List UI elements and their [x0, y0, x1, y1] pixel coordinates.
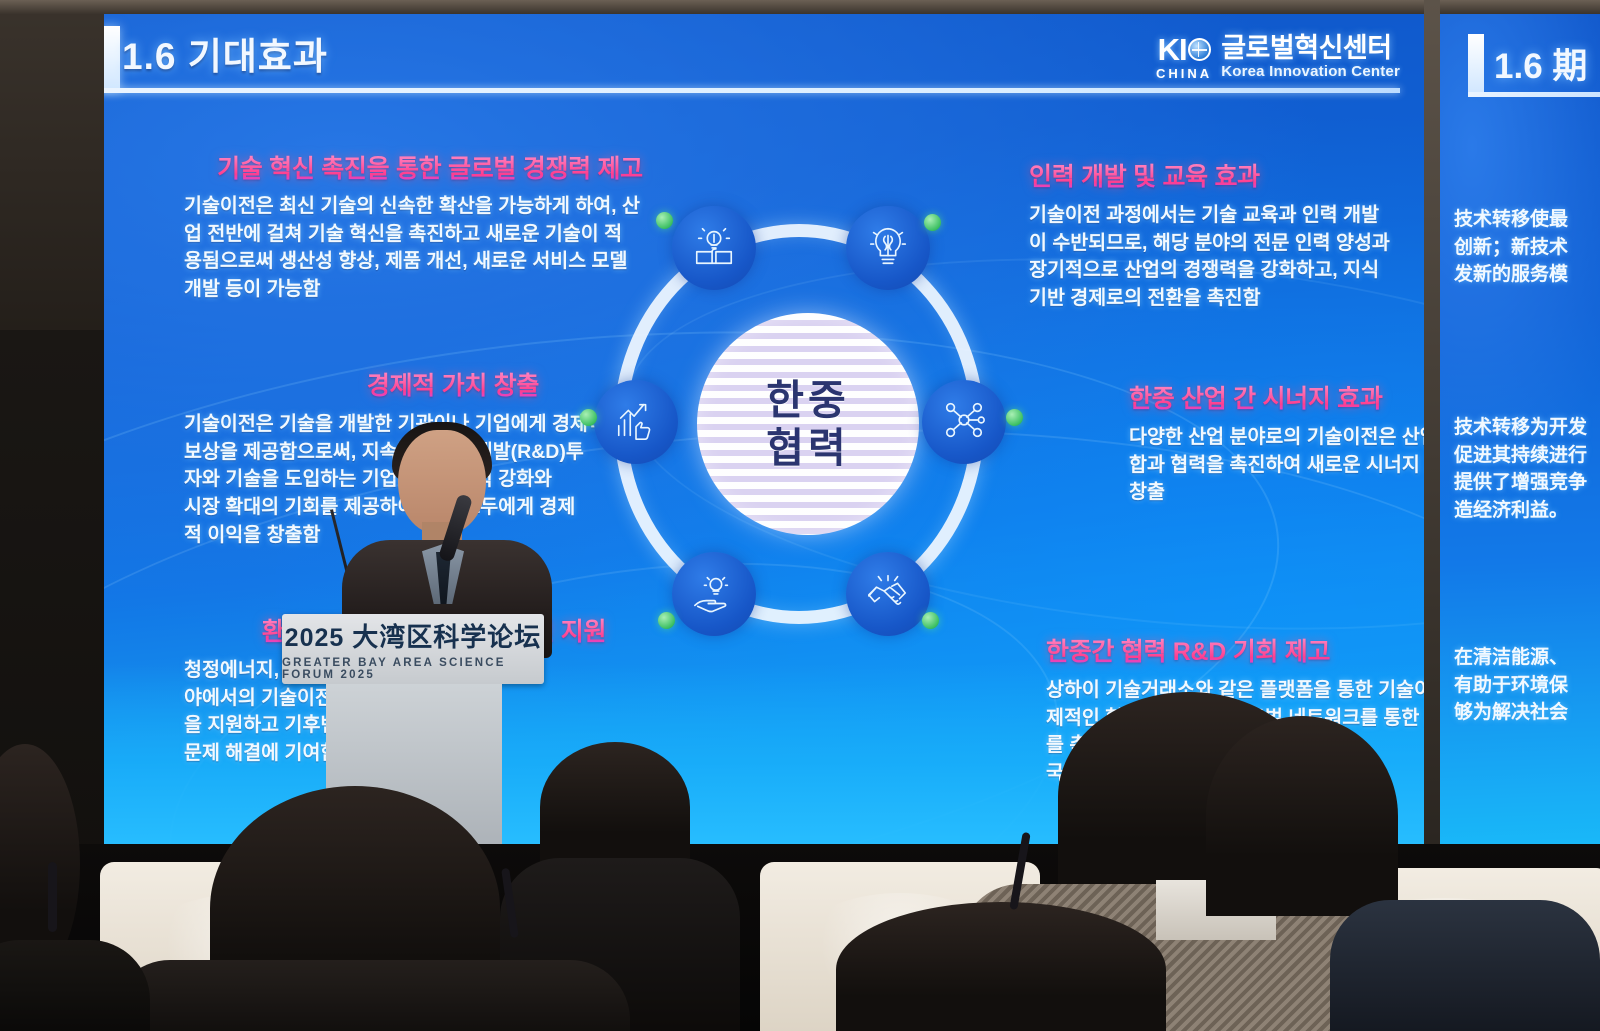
secondary-translation-screen: 1.6 期 技术转移使最 创新；新技术 发新的服务模 技术转移为开发 促进其持续…	[1440, 14, 1600, 844]
block-heading: 인력 개발 및 교육 효과	[1029, 157, 1424, 193]
kic-logo-wordmark: 글로벌혁신센터 Korea Innovation Center	[1221, 34, 1400, 80]
ceiling-trim	[0, 0, 1600, 14]
body-line: 업 전반에 걸쳐 기술 혁신을 촉진하고 새로운 기술이 적	[184, 221, 654, 249]
forum-english-title: GREATER BAY AREA SCIENCE FORUM 2025	[282, 657, 544, 681]
body-line: 造经济利益。	[1454, 497, 1587, 525]
hand-lightbulb-icon	[691, 569, 737, 620]
brain-lightbulb-icon	[865, 223, 911, 274]
body-line: 기반 경제로의 전환을 촉진함	[1029, 285, 1424, 313]
diagram-node-dot	[1006, 409, 1023, 426]
kic-korean-name: 글로벌혁신센터	[1221, 34, 1400, 62]
body-line: 在清洁能源、	[1454, 644, 1568, 672]
slide-header: 1.6 기대효과 KI CHINA 글로벌혁신센터 Korea Innovati…	[104, 14, 1424, 100]
diagram-node-brain-lightbulb	[846, 206, 930, 290]
podium-banner: 2025 大湾区科学论坛 GREATER BAY AREA SCIENCE FO…	[282, 614, 544, 684]
body-line: 有助于环境保	[1454, 672, 1568, 700]
body-line: 技术转移使最	[1454, 206, 1568, 234]
side-content-block-2: 技术转移为开发 促进其持续进行 提供了增强竞争 造经济利益。	[1454, 414, 1587, 524]
body-line: 创新；新技术	[1454, 234, 1568, 262]
body-line: 합과 협력을 촉진하여 새로운 시너지 효과를	[1129, 452, 1424, 480]
podium-banner-primary: 2025 大湾区科学论坛	[285, 617, 542, 654]
diagram-node-dot	[656, 212, 673, 229]
network-nodes-icon	[941, 397, 987, 448]
side-header-bracket	[1468, 34, 1484, 96]
body-line: 够为解决社会	[1454, 699, 1568, 727]
kic-english-name: Korea Innovation Center	[1221, 64, 1400, 80]
body-line: 장기적으로 산업의 경쟁력을 강화하고, 지식	[1029, 257, 1424, 285]
book-lightbulb-icon	[691, 223, 737, 274]
presentation-photo-scene: 1.6 기대효과 KI CHINA 글로벌혁신센터 Korea Innovati…	[0, 0, 1600, 1031]
side-content-block-1: 技术转移使最 创新；新技术 发新的服务模	[1454, 206, 1568, 289]
wall-panel-upper-left	[0, 0, 110, 330]
block-body: 다양한 산업 분야로의 기술이전은 산업 간 융 합과 협력을 촉진하여 새로운…	[1129, 424, 1424, 507]
diagram-node-growth-chart	[594, 380, 678, 464]
block-body: 기술이전은 최신 기술의 신속한 확산을 가능하게 하여, 산 업 전반에 걸쳐…	[184, 193, 654, 304]
body-line: 提供了增强竞争	[1454, 469, 1587, 497]
globe-icon	[1188, 38, 1211, 61]
diagram-node-network	[922, 380, 1006, 464]
body-line: 이 수반되므로, 해당 분야의 전문 인력 양성과	[1029, 230, 1424, 258]
body-line: 促进其持续进行	[1454, 442, 1587, 470]
forum-chinese-title: 大湾区科学论坛	[352, 617, 541, 654]
body-line: 技术转移为开发	[1454, 414, 1587, 442]
audience-shoulders	[1330, 900, 1600, 1031]
kic-logo: KI CHINA 글로벌혁신센터 Korea Innovation Center	[1156, 34, 1400, 80]
content-block-top-right: 인력 개발 및 교육 효과 기술이전 과정에서는 기술 교육과 인력 개발 이 …	[1029, 157, 1424, 313]
diagram-node-dot	[922, 612, 939, 629]
forum-year: 2025	[285, 624, 345, 653]
audience-head	[836, 902, 1166, 1031]
handshake-icon	[865, 569, 911, 620]
growth-chart-thumbsup-icon	[613, 397, 659, 448]
header-bracket-accent	[104, 26, 120, 92]
header-rule	[104, 88, 1400, 93]
diagram-node-handshake	[846, 552, 930, 636]
body-line: 다양한 산업 분야로의 기술이전은 산업 간 융	[1129, 424, 1424, 452]
body-line: 기술이전은 최신 기술의 신속한 확산을 가능하게 하여, 산	[184, 193, 654, 221]
body-line: 기술이전 과정에서는 기술 교육과 인력 개발	[1029, 202, 1424, 230]
audience-head	[540, 742, 690, 872]
kic-logo-mark: KI CHINA	[1156, 34, 1212, 80]
side-page-title: 1.6 期	[1494, 38, 1587, 89]
earpiece-cable	[48, 862, 57, 932]
content-block-top-left: 기술 혁신 촉진을 통한 글로벌 경쟁력 제고 기술이전은 최신 기술의 신속한…	[184, 149, 654, 304]
presenter-head	[398, 430, 486, 534]
body-line: 发新的服务模	[1454, 261, 1568, 289]
audience-head	[1206, 716, 1398, 916]
diagram-node-hand-lightbulb	[672, 552, 756, 636]
diagram-node-dot	[580, 409, 597, 426]
center-label-line2: 협력	[766, 424, 849, 472]
page-title: 1.6 기대효과	[122, 26, 328, 80]
diagram-node-book-lightbulb	[672, 206, 756, 290]
body-line: 창출	[1129, 479, 1424, 507]
block-heading: 한중 산업 간 시너지 효과	[1129, 379, 1424, 415]
diagram-node-dot	[658, 612, 675, 629]
block-heading: 한중간 협력 R&D 기회 제고	[1046, 632, 1424, 668]
kic-initials: KI	[1158, 34, 1211, 65]
center-label-line1: 한중	[766, 376, 849, 424]
block-heading: 기술 혁신 촉진을 통한 글로벌 경쟁력 제고	[206, 149, 654, 185]
audience-shoulders	[110, 960, 630, 1031]
side-content-block-3: 在清洁能源、 有助于环境保 够为解决社会	[1454, 644, 1568, 727]
side-header-rule	[1468, 92, 1600, 97]
content-block-middle-right: 한중 산업 간 시너지 효과 다양한 산업 분야로의 기술이전은 산업 간 융 …	[1129, 379, 1424, 507]
block-body: 기술이전 과정에서는 기술 교육과 인력 개발 이 수반되므로, 해당 분야의 …	[1029, 202, 1424, 313]
body-line: 개발 등이 가능함	[184, 276, 654, 304]
body-line: 용됨으로써 생산성 향상, 제품 개선, 새로운 서비스 모델	[184, 248, 654, 276]
central-cycle-diagram: 한중 협력	[594, 200, 1004, 670]
audience-shoulders	[0, 940, 150, 1031]
diagram-node-dot	[924, 214, 941, 231]
diagram-center-label: 한중 협력	[697, 313, 919, 535]
kic-initials-text: KI	[1158, 34, 1187, 65]
kic-country-label: CHINA	[1156, 67, 1212, 80]
